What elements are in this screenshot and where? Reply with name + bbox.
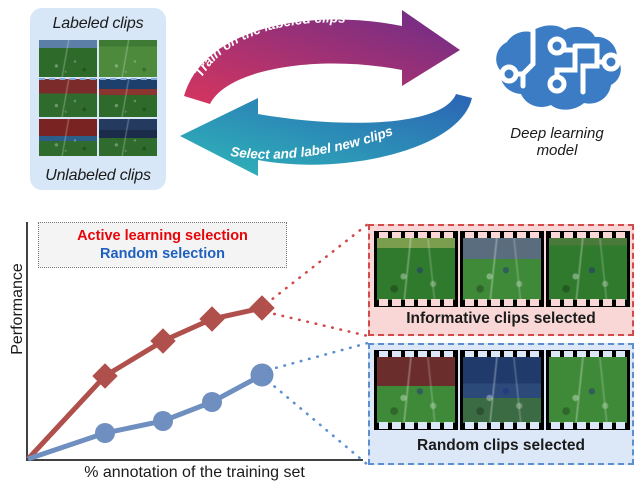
brain-circuit-icon (487, 22, 627, 122)
series-random-line (28, 375, 262, 459)
informative-clips-callout: Informative clips selected (368, 224, 634, 336)
clip-image (377, 357, 455, 423)
chart-legend: Active learning selection Random selecti… (38, 222, 287, 268)
clip-image (463, 357, 541, 423)
model-caption-line1: Deep learning (510, 125, 603, 142)
unlabeled-clips-title: Unlabeled clips (30, 167, 166, 185)
model-caption-line2: model (537, 142, 578, 159)
thumb-labeled-1[interactable] (39, 40, 97, 77)
film-frame-random-2[interactable] (460, 350, 544, 430)
sprocket-holes-bottom (377, 422, 455, 429)
sprocket-holes-bottom (377, 299, 455, 306)
thumb-unlabeled-3[interactable] (39, 119, 97, 156)
thumb-unlabeled-4[interactable] (99, 119, 157, 156)
random-clips-callout: Random clips selected (368, 343, 634, 465)
film-frame-random-1[interactable] (374, 350, 458, 430)
callout-connector-random (268, 343, 368, 465)
clips-panel: Labeled clips Unlabeled clips (30, 8, 166, 190)
sprocket-holes-bottom (463, 422, 541, 429)
thumb-unlabeled-2[interactable] (99, 79, 157, 116)
film-frame-informative-2[interactable] (460, 231, 544, 307)
thumb-labeled-2[interactable] (99, 40, 157, 77)
clip-image (463, 238, 541, 300)
clip-image (377, 238, 455, 300)
legend-item-random: Random selection (100, 245, 225, 263)
deep-learning-model: Deep learning model (487, 22, 627, 182)
model-caption: Deep learning model (487, 126, 627, 160)
select-arrow: Select and label new clips (174, 88, 484, 180)
legend-item-active-learning: Active learning selection (77, 227, 248, 245)
clip-image (549, 238, 627, 300)
sprocket-holes-bottom (549, 299, 627, 306)
clip-image (549, 357, 627, 423)
train-arrow: Train on the labeled clips (174, 4, 484, 99)
film-frame-informative-3[interactable] (546, 231, 630, 307)
film-frame-informative-1[interactable] (374, 231, 458, 307)
informative-clips-caption: Informative clips selected (370, 310, 632, 328)
sprocket-holes-bottom (463, 299, 541, 306)
film-frame-random-3[interactable] (546, 350, 630, 430)
sprocket-holes-bottom (549, 422, 627, 429)
thumb-unlabeled-1[interactable] (39, 79, 97, 116)
labeled-unlabeled-divider (39, 78, 157, 80)
clip-thumbnail-grid (39, 40, 157, 156)
random-clips-caption: Random clips selected (370, 437, 632, 455)
series-active-learning-line (28, 308, 262, 459)
labeled-clips-title: Labeled clips (30, 15, 166, 33)
